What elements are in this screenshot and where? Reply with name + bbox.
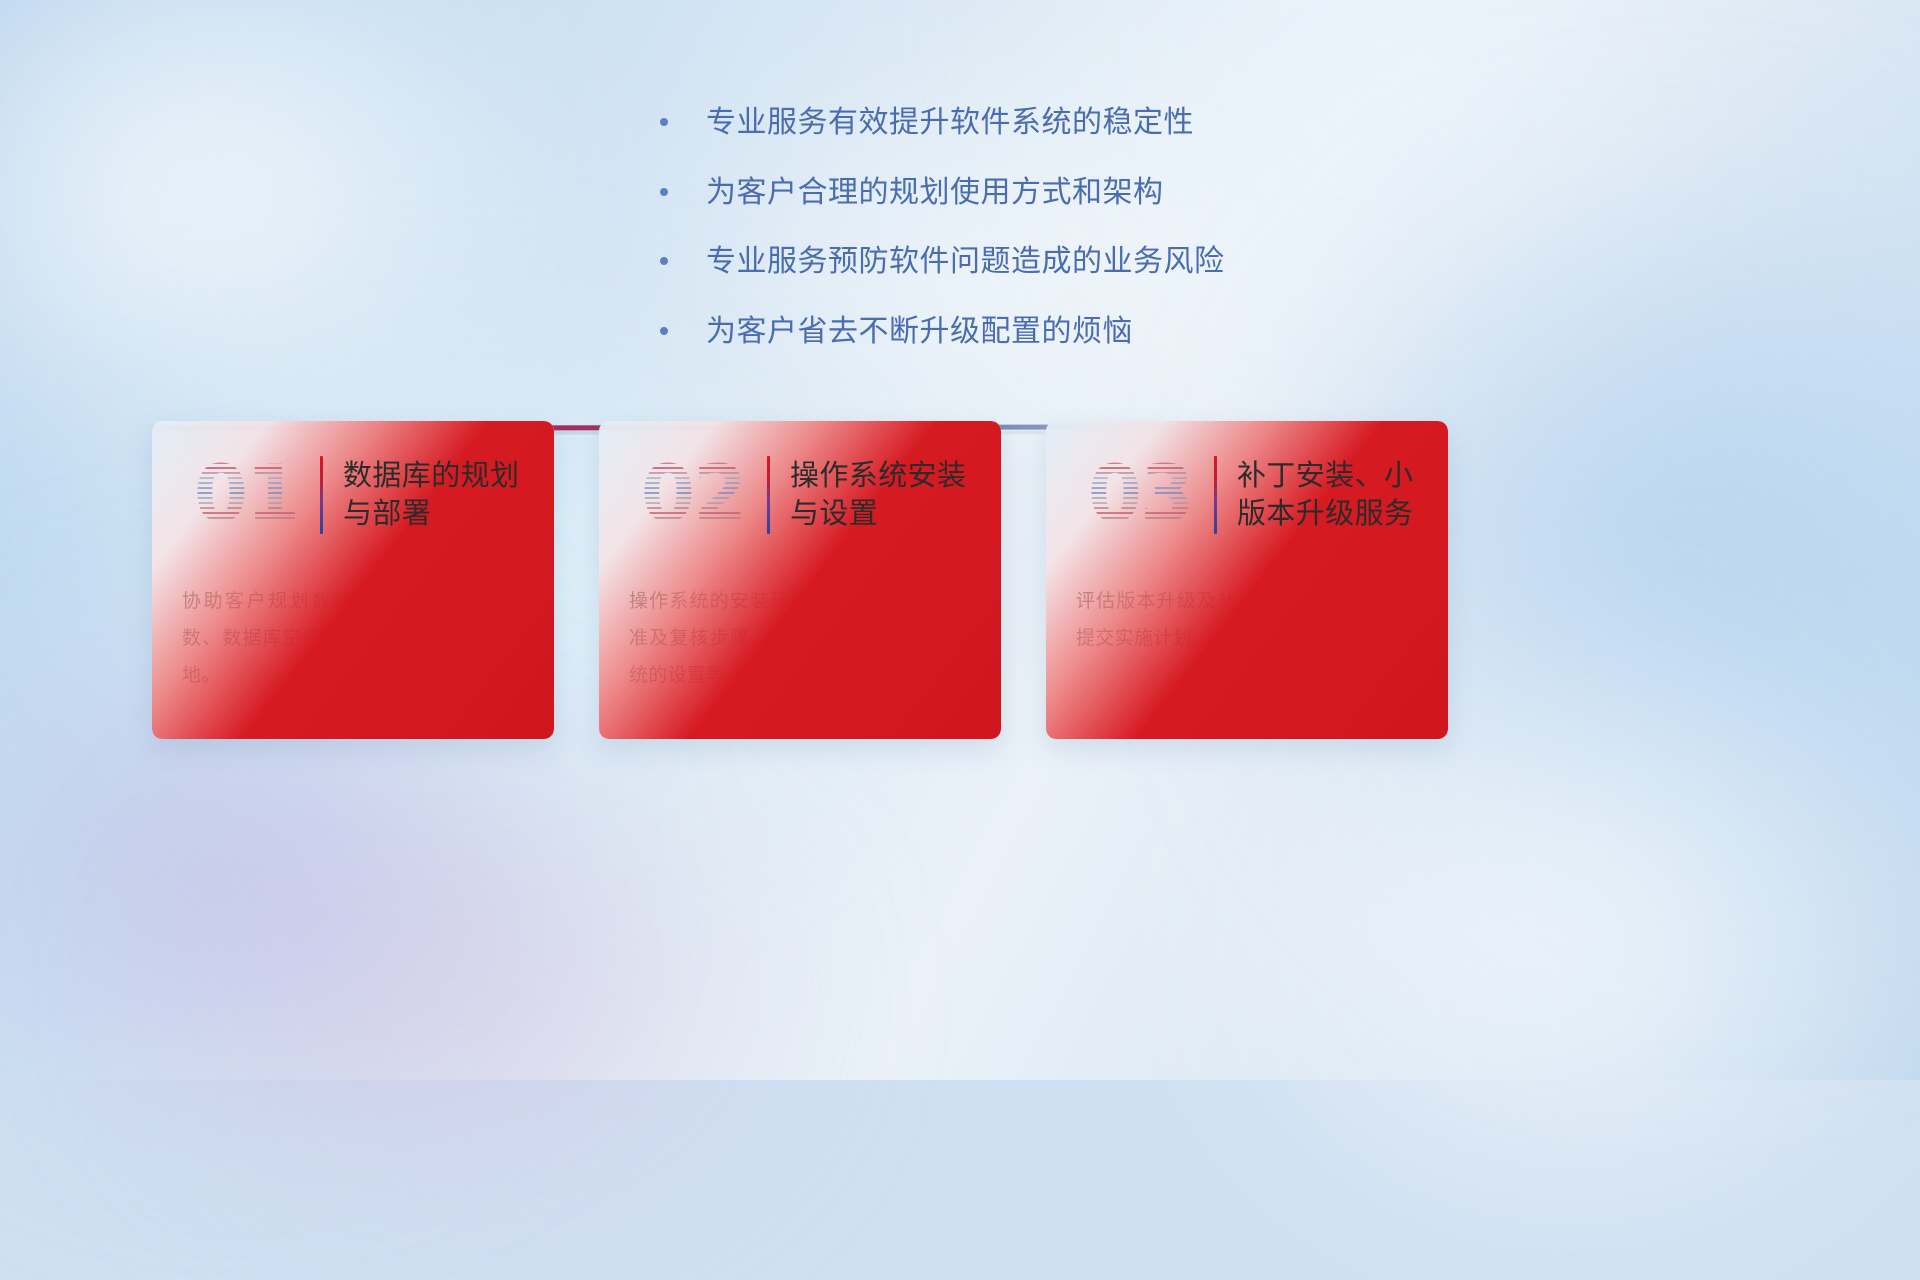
service-card-02[interactable]: 02 02 操作系统安装与设置 操作系统的安装环境网络调查、安装标准及复核步骤、… [599,421,1001,739]
card-number-watermark: 01 01 [180,447,312,543]
card-title: 补丁安装、小版本升级服务 [1237,457,1424,534]
card-number-watermark: 02 02 [627,447,759,543]
service-card-01[interactable]: 01 01 数据库的规划与部署 协助客户规划数据库环境、数据库参数、数据库空间、… [152,421,554,739]
card-number-watermark: 03 03 [1074,447,1206,543]
bullet-dot-icon [660,188,668,196]
card-header: 03 03 补丁安装、小版本升级服务 [1046,421,1448,553]
card-title-rule [767,456,770,534]
card-body-text: 评估版本升级及补丁安装的必要性，并提交实施计划。 [1046,553,1448,657]
card-number-tint: 01 [180,447,312,543]
bullet-dot-icon [660,118,668,126]
card-title: 操作系统安装与设置 [790,457,977,534]
card-body-text: 协助客户规划数据库环境、数据库参数、数据库空间、数据库对象等部署落地。 [152,553,554,694]
service-card-list: 01 01 数据库的规划与部署 协助客户规划数据库环境、数据库参数、数据库空间、… [152,421,1448,739]
bullet-text: 为客户合理的规划使用方式和架构 [706,174,1164,212]
card-number-tint: 02 [627,447,759,543]
bullet-dot-icon [660,327,668,335]
bullet-text: 专业服务有效提升软件系统的稳定性 [706,104,1194,142]
list-item: 为客户省去不断升级配置的烦恼 [660,313,1225,351]
bullet-text: 为客户省去不断升级配置的烦恼 [706,313,1133,351]
card-header: 02 02 操作系统安装与设置 [599,421,1001,553]
card-title-rule [320,456,323,534]
service-card-03[interactable]: 03 03 补丁安装、小版本升级服务 评估版本升级及补丁安装的必要性，并提交实施… [1046,421,1448,739]
bullet-text: 专业服务预防软件问题造成的业务风险 [706,243,1225,281]
background-glow-bottom-left [120,760,820,1240]
list-item: 专业服务预防软件问题造成的业务风险 [660,243,1225,281]
card-body-text: 操作系统的安装环境网络调查、安装标准及复核步骤、驱动程序的配置以及系统的设置等内… [599,553,1001,694]
card-number-tint: 03 [1074,447,1206,543]
benefits-bullet-list: 专业服务有效提升软件系统的稳定性 为客户合理的规划使用方式和架构 专业服务预防软… [660,104,1225,382]
card-title: 数据库的规划与部署 [343,457,530,534]
bullet-dot-icon [660,257,668,265]
list-item: 为客户合理的规划使用方式和架构 [660,174,1225,212]
list-item: 专业服务有效提升软件系统的稳定性 [660,104,1225,142]
card-header: 01 01 数据库的规划与部署 [152,421,554,553]
card-title-rule [1214,456,1217,534]
